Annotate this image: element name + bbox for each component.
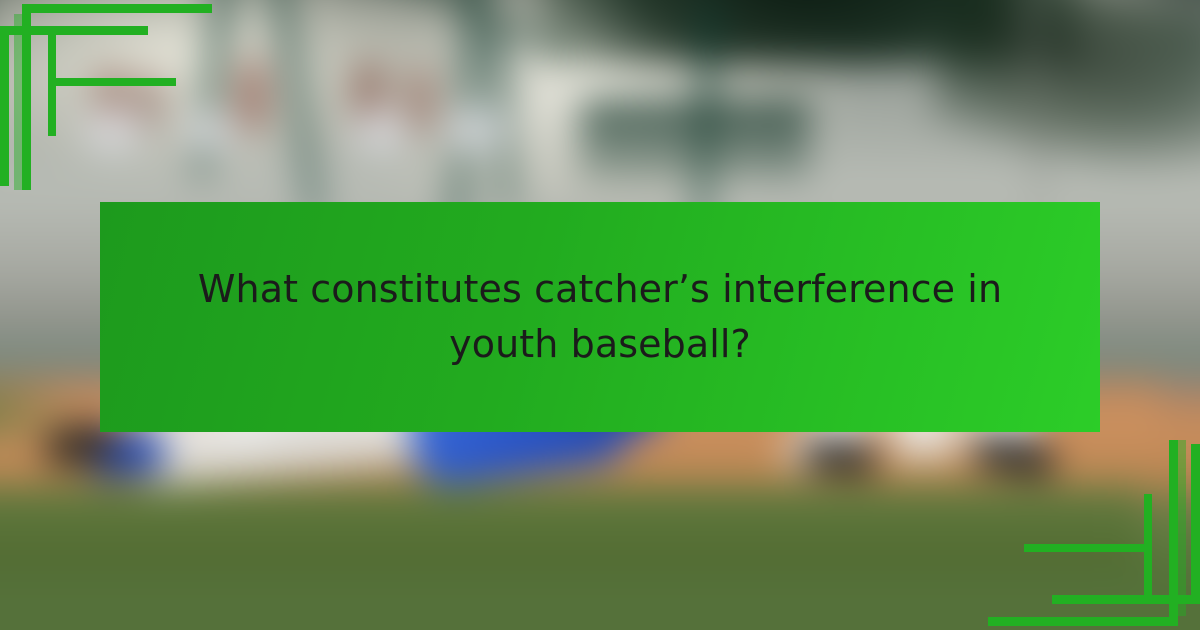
ornament-horizontal-inner [56, 78, 176, 86]
ornament-horizontal-mid [1052, 595, 1200, 604]
page-title: What constitutes catcher’s interference … [170, 262, 1030, 372]
ornament-horizontal-inner [1024, 544, 1144, 552]
spectator-figure-light [448, 108, 504, 152]
headline-banner: What constitutes catcher’s interference … [100, 202, 1100, 432]
ornament-horizontal-outer [22, 4, 212, 13]
ornament-vertical-inner [1144, 494, 1152, 604]
ornament-horizontal-mid [0, 26, 148, 35]
spectator-figure [236, 58, 268, 130]
share-card: What constitutes catcher’s interference … [0, 0, 1200, 630]
spectator-figure-light [186, 112, 232, 150]
railing-crossbar [580, 100, 810, 180]
ornament-vertical-faint [1178, 440, 1186, 616]
ornament-horizontal-outer [988, 617, 1178, 626]
ornament-vertical-mid [0, 26, 9, 186]
cleat [803, 437, 878, 477]
ornament-vertical-inner [48, 26, 56, 136]
spectator-figure [406, 66, 436, 132]
spectator-figure-light [356, 110, 406, 150]
ornament-vertical-faint [14, 14, 22, 190]
ornament-vertical-mid [1191, 444, 1200, 604]
foreground-grass [0, 488, 1140, 570]
spectator-figure-light [86, 108, 140, 150]
